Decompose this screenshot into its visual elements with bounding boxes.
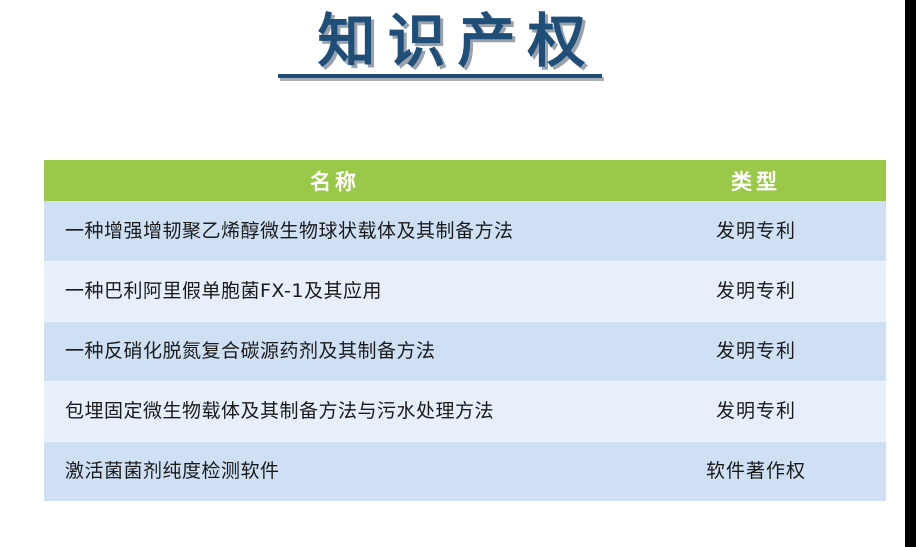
table-row: 包埋固定微生物载体及其制备方法与污水处理方法 发明专利: [44, 381, 886, 441]
page-title: 知识产权: [303, 8, 601, 75]
column-header-type: 类型: [626, 160, 886, 201]
cell-name: 包埋固定微生物载体及其制备方法与污水处理方法: [44, 381, 626, 441]
cell-type: 发明专利: [626, 201, 886, 261]
table-row: 一种反硝化脱氮复合碳源药剂及其制备方法 发明专利: [44, 321, 886, 381]
table-header: 名称 类型: [44, 160, 886, 201]
cell-type: 软件著作权: [626, 441, 886, 501]
cell-type: 发明专利: [626, 321, 886, 381]
slide-page: 知识产权 名称 类型 一种增强增韧聚乙烯醇微生物球状载体及其制备方法 发明专利 …: [0, 0, 916, 547]
title-underline: [278, 74, 602, 78]
cell-type: 发明专利: [626, 261, 886, 321]
cell-type: 发明专利: [626, 381, 886, 441]
table-body: 一种增强增韧聚乙烯醇微生物球状载体及其制备方法 发明专利 一种巴利阿里假单胞菌F…: [44, 201, 886, 501]
cell-name: 激活菌菌剂纯度检测软件: [44, 441, 626, 501]
cell-name: 一种反硝化脱氮复合碳源药剂及其制备方法: [44, 321, 626, 381]
cell-name: 一种巴利阿里假单胞菌FX-1及其应用: [44, 261, 626, 321]
table-row: 激活菌菌剂纯度检测软件 软件著作权: [44, 441, 886, 501]
cell-name: 一种增强增韧聚乙烯醇微生物球状载体及其制备方法: [44, 201, 626, 261]
page-title-block: 知识产权: [0, 8, 905, 75]
table-row: 一种巴利阿里假单胞菌FX-1及其应用 发明专利: [44, 261, 886, 321]
table-row: 一种增强增韧聚乙烯醇微生物球状载体及其制备方法 发明专利: [44, 201, 886, 261]
column-header-name: 名称: [44, 160, 626, 201]
table-header-row: 名称 类型: [44, 160, 886, 201]
right-edge-strip: [905, 0, 916, 547]
intellectual-property-table: 名称 类型 一种增强增韧聚乙烯醇微生物球状载体及其制备方法 发明专利 一种巴利阿…: [44, 160, 886, 501]
